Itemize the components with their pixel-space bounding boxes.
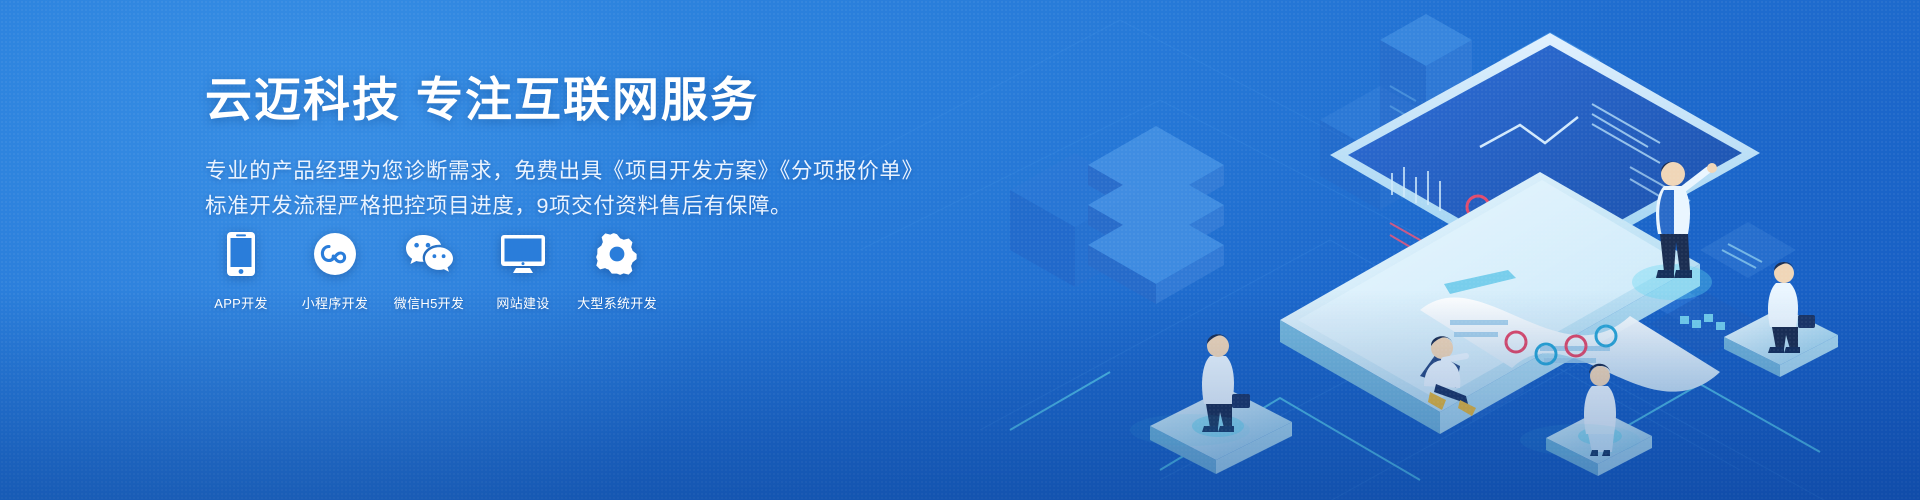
service-item-wechat-h5[interactable]: 微信H5开发 bbox=[393, 228, 465, 312]
gear-icon bbox=[591, 228, 643, 280]
mini-program-icon bbox=[309, 228, 361, 280]
hero-subtitle: 专业的产品经理为您诊断需求，免费出具《项目开发方案》《分项报价单》 标准开发流程… bbox=[205, 154, 905, 224]
subtitle-line-2: 标准开发流程严格把控项目进度，9项交付资料售后有保障。 bbox=[205, 189, 905, 224]
page-title: 云迈科技 专注互联网服务 bbox=[205, 72, 905, 127]
service-item-app[interactable]: APP开发 bbox=[205, 228, 277, 312]
service-label: 网站建设 bbox=[496, 293, 549, 312]
service-label: APP开发 bbox=[214, 293, 268, 312]
subtitle-line-1: 专业的产品经理为您诊断需求，免费出具《项目开发方案》《分项报价单》 bbox=[205, 154, 905, 189]
mobile-phone-icon bbox=[215, 228, 267, 280]
illustration-isometric-tech bbox=[860, 0, 1920, 500]
service-item-large-system[interactable]: 大型系统开发 bbox=[581, 228, 653, 312]
service-label: 微信H5开发 bbox=[394, 293, 464, 312]
wechat-icon bbox=[403, 228, 455, 280]
service-label: 大型系统开发 bbox=[577, 293, 657, 312]
service-label: 小程序开发 bbox=[302, 293, 369, 312]
service-item-website[interactable]: 网站建设 bbox=[487, 228, 559, 312]
monitor-icon bbox=[497, 228, 549, 280]
hero-banner: 云迈科技 专注互联网服务 专业的产品经理为您诊断需求，免费出具《项目开发方案》《… bbox=[0, 0, 1920, 500]
service-item-mini-program[interactable]: 小程序开发 bbox=[299, 228, 371, 312]
service-list: APP开发 小程序开发 bbox=[205, 228, 653, 312]
hero-copy: 云迈科技 专注互联网服务 专业的产品经理为您诊断需求，免费出具《项目开发方案》《… bbox=[205, 72, 905, 224]
